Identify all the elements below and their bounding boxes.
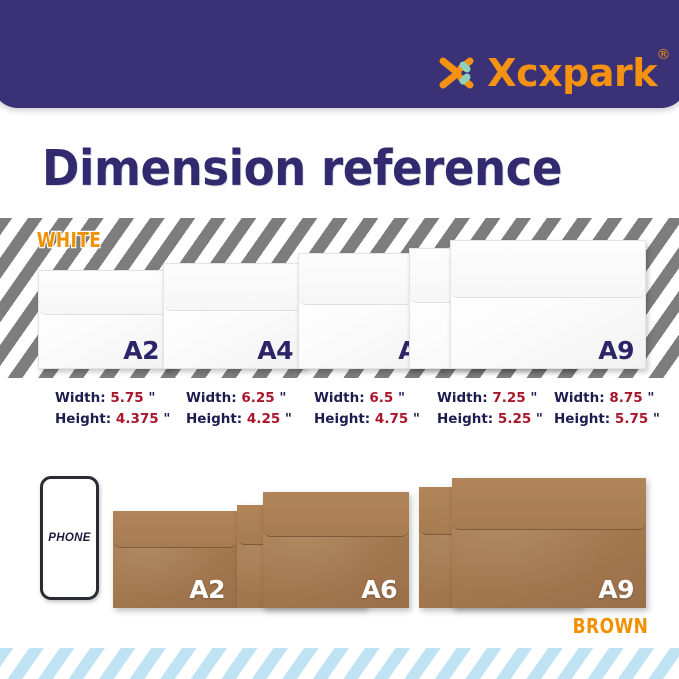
height-label: Height: [55,411,116,427]
envelope-size-label: A2 [189,575,225,604]
height-label: Height: [314,411,375,427]
envelope-flap [263,492,409,537]
dimension-table: Width: 5.75 "Height: 4.375 "Width: 6.25 … [0,388,679,448]
height-value: 4.375 [116,411,159,427]
dimension-column-a6: Width: 6.5 "Height: 4.75 " [314,388,420,431]
width-label: Width: [437,390,492,406]
height-row: Height: 4.75 " [314,409,420,430]
width-unit: " [275,390,287,406]
height-row: Height: 5.75 " [554,409,660,430]
header-banner: Xcxpark ® [0,0,679,108]
height-row: Height: 4.25 " [186,409,292,430]
envelope-size-label: A9 [598,336,634,365]
height-unit: " [159,411,171,427]
width-row: Width: 8.75 " [554,388,660,409]
width-label: Width: [554,390,609,406]
envelope-flap [164,264,304,311]
height-unit: " [531,411,543,427]
dimension-column-a7: Width: 7.25 "Height: 5.25 " [437,388,543,431]
height-label: Height: [554,411,615,427]
dimension-column-a9: Width: 8.75 "Height: 5.75 " [554,388,660,431]
brand-name-text: Xcxpark [487,51,657,95]
width-label: Width: [314,390,369,406]
height-value: 4.75 [375,411,408,427]
width-row: Width: 5.75 " [55,388,170,409]
height-unit: " [408,411,420,427]
dimension-column-a2: Width: 5.75 "Height: 4.375 " [55,388,170,431]
envelope-flap [113,511,237,548]
brown-band-label: BROWN [573,614,649,638]
page-title: Dimension reference [42,140,562,197]
width-value: 6.5 [369,390,393,406]
height-label: Height: [437,411,498,427]
phone-label: PHONE [48,532,90,544]
height-value: 5.25 [498,411,531,427]
white-band-label: WHITE [37,228,102,252]
envelope-a9: A9 [450,240,646,369]
height-row: Height: 5.25 " [437,409,543,430]
width-row: Width: 6.5 " [314,388,420,409]
envelope-size-label: A2 [123,336,159,365]
height-value: 5.75 [615,411,648,427]
width-row: Width: 7.25 " [437,388,543,409]
width-value: 6.25 [241,390,274,406]
height-label: Height: [186,411,247,427]
width-label: Width: [55,390,110,406]
envelope-size-label: A6 [361,575,397,604]
envelope-flap [452,478,646,530]
width-value: 5.75 [110,390,143,406]
brand-logo: Xcxpark ® [436,52,657,94]
envelope-flap [451,241,645,298]
width-value: 8.75 [609,390,642,406]
envelope-a9: A9 [452,478,646,608]
height-row: Height: 4.375 " [55,409,170,430]
phone-mockup: PHONE [40,476,99,600]
width-unit: " [393,390,405,406]
width-unit: " [526,390,538,406]
width-value: 7.25 [492,390,525,406]
envelope-size-label: A4 [257,336,293,365]
width-unit: " [144,390,156,406]
height-unit: " [280,411,292,427]
registered-mark-icon: ® [657,48,671,62]
dimension-column-a4: Width: 6.25 "Height: 4.25 " [186,388,292,431]
bottom-stripe-band [0,648,679,679]
envelope-a2: A2 [38,270,171,369]
width-row: Width: 6.25 " [186,388,292,409]
x-mark-logo-icon [436,52,478,94]
height-value: 4.25 [247,411,280,427]
width-label: Width: [186,390,241,406]
brand-wordmark: Xcxpark ® [487,54,657,92]
envelope-flap [39,271,170,315]
envelope-a4: A4 [163,263,305,369]
envelope-size-label: A9 [598,575,634,604]
height-unit: " [648,411,660,427]
envelope-a6: A6 [263,492,409,608]
envelope-a2: A2 [113,511,237,608]
width-unit: " [643,390,655,406]
